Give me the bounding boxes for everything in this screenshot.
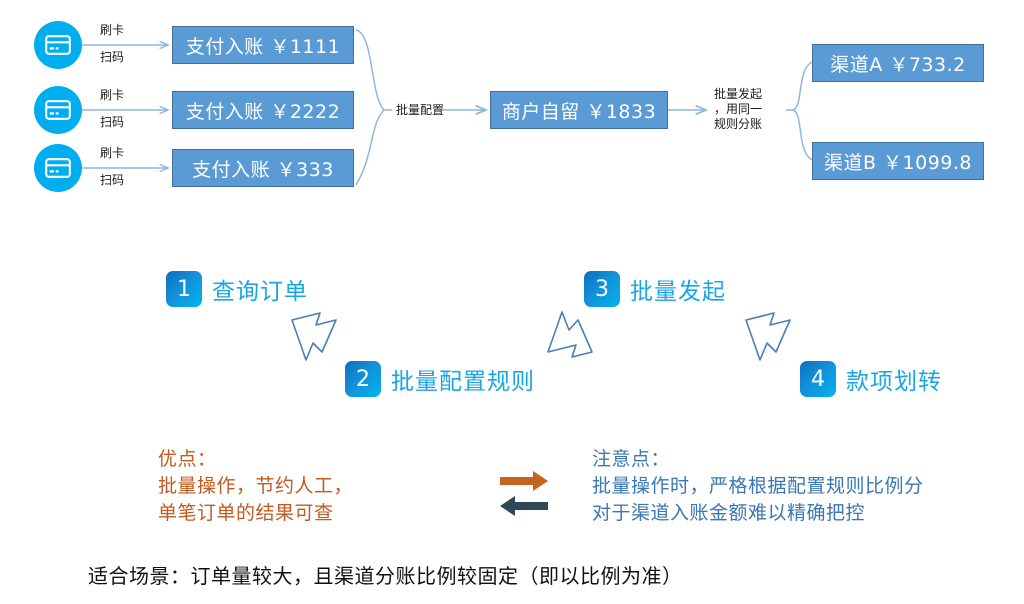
source-3-label-top: 刷卡 bbox=[100, 146, 124, 160]
source-3-label-bottom: 扫码 bbox=[100, 173, 124, 187]
credit-card-glyph bbox=[45, 35, 71, 55]
step-4-label: 款项划转 bbox=[846, 362, 942, 396]
credit-card-icon bbox=[34, 144, 82, 192]
merge-label: 批量配置 bbox=[396, 103, 444, 118]
step-3-label: 批量发起 bbox=[630, 272, 726, 306]
step-1[interactable]: 1 查询订单 bbox=[166, 271, 308, 307]
source-2-label-top: 刷卡 bbox=[100, 88, 124, 102]
credit-card-icon bbox=[34, 21, 82, 69]
diagram-canvas: 刷卡 扫码 支付入账 ￥1111 刷卡 扫码 支付入账 ￥2222 刷卡 扫码 … bbox=[0, 0, 1024, 604]
step-1-label: 查询订单 bbox=[212, 272, 308, 306]
step-4-badge: 4 bbox=[800, 361, 836, 397]
payment-box-3[interactable]: 支付入账 ￥333 bbox=[172, 149, 354, 187]
split-label: 批量发起 ，用同一 规则分账 bbox=[714, 87, 776, 132]
merchant-retain-box[interactable]: 商户自留 ￥1833 bbox=[490, 91, 668, 129]
credit-card-icon bbox=[34, 86, 82, 134]
source-2-label-bottom: 扫码 bbox=[100, 115, 124, 129]
step-2[interactable]: 2 批量配置规则 bbox=[345, 361, 535, 397]
credit-card-glyph bbox=[45, 100, 71, 120]
channel-b-box[interactable]: 渠道B ￥1099.8 bbox=[812, 142, 984, 180]
payment-box-2[interactable]: 支付入账 ￥2222 bbox=[172, 91, 354, 129]
step-1-badge: 1 bbox=[166, 271, 202, 307]
step-4[interactable]: 4 款项划转 bbox=[800, 361, 942, 397]
step-3-badge: 3 bbox=[584, 271, 620, 307]
payment-box-1[interactable]: 支付入账 ￥1111 bbox=[172, 26, 354, 64]
cautions-note: 注意点： 批量操作时，严格根据配置规则比例分 对于渠道入账金额难以精确把控 bbox=[592, 446, 924, 527]
step-2-badge: 2 bbox=[345, 361, 381, 397]
source-1-label-bottom: 扫码 bbox=[100, 50, 124, 64]
channel-a-box[interactable]: 渠道A ￥733.2 bbox=[812, 44, 984, 82]
exchange-arrows-icon bbox=[500, 471, 548, 516]
scenario-caption: 适合场景：订单量较大，且渠道分账比例较固定（即以比例为准） bbox=[88, 560, 683, 589]
step-2-label: 批量配置规则 bbox=[391, 362, 535, 396]
step-3[interactable]: 3 批量发起 bbox=[584, 271, 726, 307]
pros-note: 优点： 批量操作，节约人工， 单笔订单的结果可查 bbox=[158, 446, 353, 527]
credit-card-glyph bbox=[45, 158, 71, 178]
source-1-label-top: 刷卡 bbox=[100, 23, 124, 37]
